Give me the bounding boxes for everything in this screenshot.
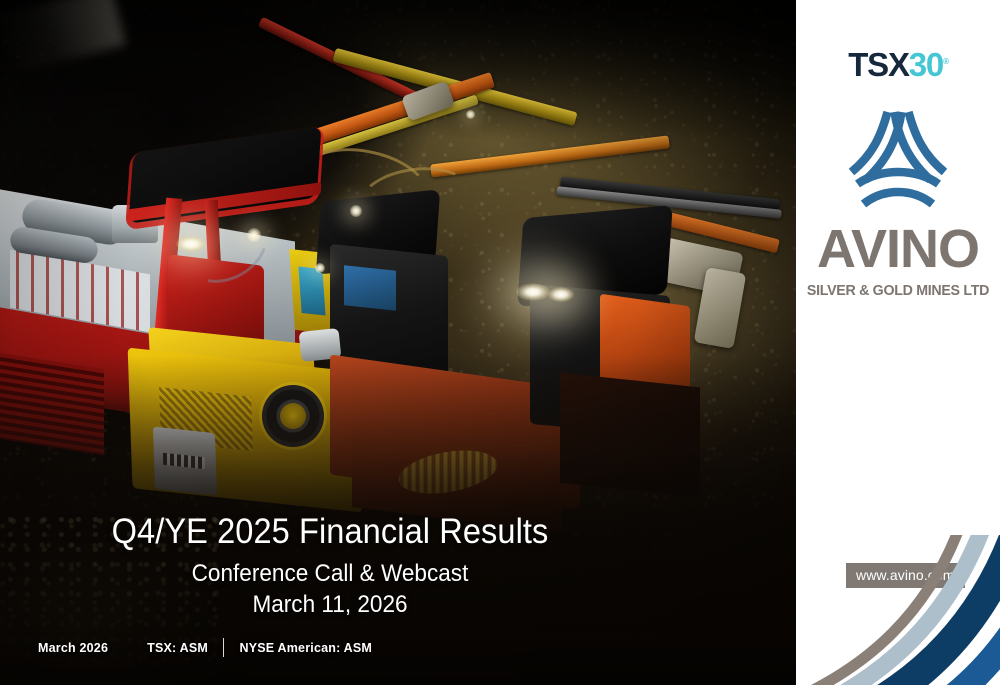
- headlight-3: [548, 287, 574, 302]
- work-light-1: [247, 228, 261, 242]
- blue-control-box: [344, 265, 396, 310]
- title-block: Q4/YE 2025 Financial Results Conference …: [0, 512, 660, 621]
- avino-tagline: SILVER & GOLD MINES LTD: [798, 284, 998, 299]
- work-light-3: [315, 263, 325, 273]
- footer-divider: [223, 638, 225, 657]
- headlight-1: [176, 236, 206, 252]
- footer-nyse-listing: NYSE American: ASM: [239, 641, 372, 655]
- slide-footer: March 2026 TSX: ASM NYSE American: ASM: [38, 638, 372, 657]
- work-light-4: [466, 110, 475, 119]
- headlight-2: [516, 283, 550, 301]
- avino-logo-mark: [836, 110, 961, 216]
- page-title: Q4/YE 2025 Financial Results: [23, 512, 637, 551]
- footer-date: March 2026: [38, 641, 108, 655]
- footer-tsx-listing: TSX: ASM: [147, 641, 208, 655]
- website-chip[interactable]: www.avino.com: [846, 563, 965, 588]
- tsx30-number: 30: [909, 46, 943, 83]
- avino-wordmark: AVINO: [796, 222, 1000, 276]
- cyan-side-panel: [298, 266, 325, 315]
- tsx30-prefix: TSX: [848, 46, 909, 83]
- subtitle-line1: Conference Call & Webcast: [20, 558, 640, 589]
- work-light-2: [350, 205, 362, 217]
- presentation-slide: Q4/YE 2025 Financial Results Conference …: [0, 0, 1000, 685]
- tsx30-trademark: ®: [943, 57, 948, 66]
- brand-panel: TSX30®: [796, 0, 1000, 685]
- subtitle-line2: March 11, 2026: [20, 589, 640, 620]
- brand-swoosh: [796, 535, 1000, 685]
- tsx30-badge: TSX30®: [796, 48, 1000, 81]
